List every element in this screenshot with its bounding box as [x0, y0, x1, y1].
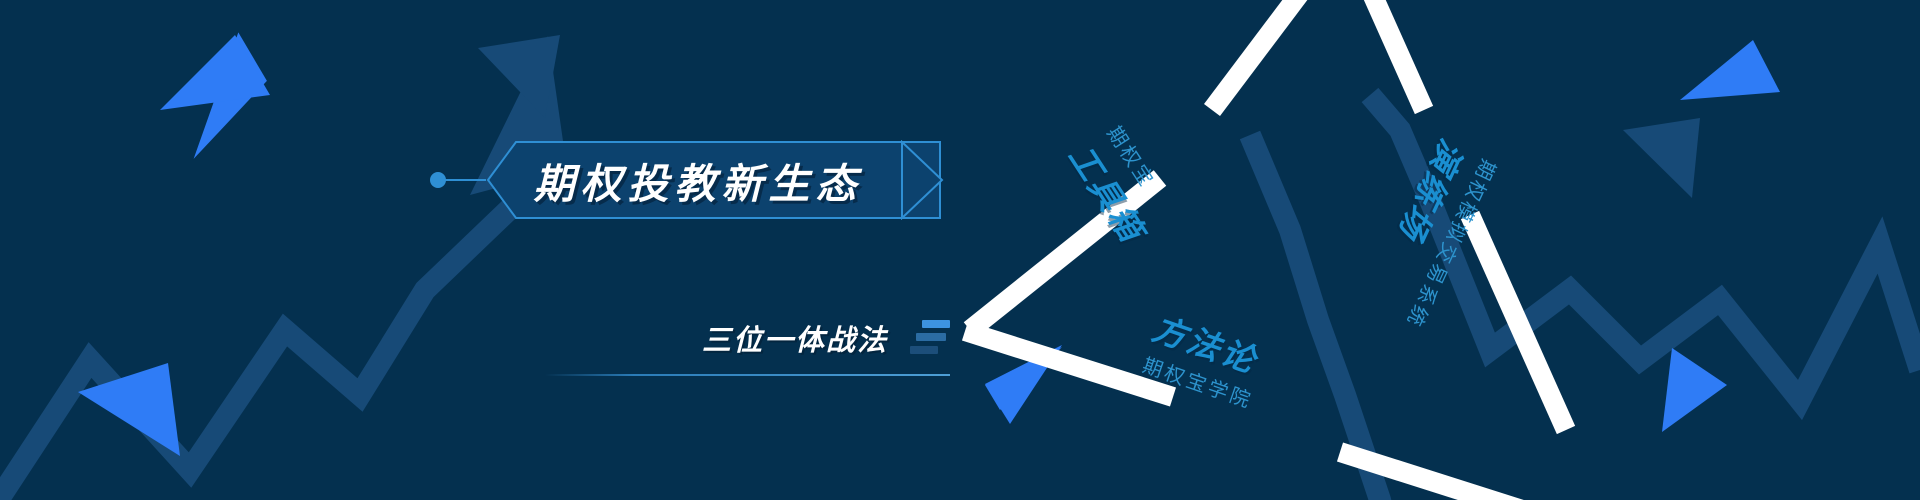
triangle-edge-right-lower [1470, 215, 1566, 430]
strategy-triangle [0, 0, 1920, 500]
three-bars-icon-bar-1 [922, 320, 950, 328]
subtitle-block: 三位一体战法 [545, 310, 950, 382]
promo-banner: 期权宝 工具箱 期权模拟交易系统 演练场 方法论 期权宝学院 期权投教新生态 三… [0, 0, 1920, 500]
three-bars-icon-bar-2 [916, 333, 946, 341]
subtitle-underline [545, 374, 950, 376]
subtitle-row: 三位一体战法 [545, 310, 950, 366]
triangle-edge-right-upper [1348, 0, 1424, 110]
page-title: 期权投教新生态 [488, 140, 908, 220]
triangle-edge-left-upper [1212, 0, 1340, 110]
triangle-edge-bottom-right [1340, 452, 1560, 500]
headline-block: 期权投教新生态 [430, 140, 950, 220]
three-bars-icon-bar-3 [910, 346, 938, 354]
subtitle-text: 三位一体战法 [702, 317, 888, 359]
three-bars-icon [910, 320, 950, 356]
headline-bullet-dot [430, 172, 446, 188]
